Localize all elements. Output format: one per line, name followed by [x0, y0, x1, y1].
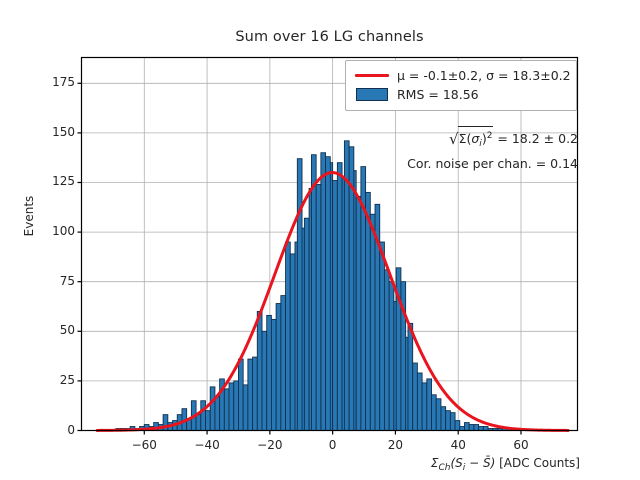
annotation-correlated-noise: Cor. noise per chan. = 0.14	[330, 154, 578, 173]
y-tick-label: 150	[30, 125, 75, 139]
y-tick-label: 100	[30, 224, 75, 238]
x-tick-label: 20	[365, 438, 425, 452]
legend-patch-swatch	[353, 88, 391, 101]
legend-item-histogram[interactable]: RMS = 18.56	[353, 85, 569, 104]
x-tick-label: −60	[114, 438, 174, 452]
y-tick-label: 25	[30, 373, 75, 387]
x-axis-label: ΣCh(Si − S̄) [ADC Counts]	[318, 456, 580, 473]
x-tick-label: −20	[240, 438, 300, 452]
x-tick-label: 0	[303, 438, 363, 452]
y-tick-label: 50	[30, 323, 75, 337]
figure-canvas: Sum over 16 LG channels Events ΣCh(Si − …	[0, 0, 640, 480]
x-tick-label: 40	[428, 438, 488, 452]
annotation-sigma-quadrature: √Σ(σi)2 = 18.2 ± 0.2	[330, 126, 578, 154]
legend-line-swatch	[353, 74, 391, 77]
y-tick-label: 175	[30, 75, 75, 89]
legend-item-fit-label: μ = -0.1±0.2, σ = 18.3±0.2	[391, 68, 571, 83]
chart-title: Sum over 16 LG channels	[81, 29, 578, 45]
y-tick-label: 125	[30, 174, 75, 188]
x-tick-label: −40	[177, 438, 237, 452]
legend-item-fit[interactable]: μ = -0.1±0.2, σ = 18.3±0.2	[353, 66, 569, 85]
legend-item-histogram-label: RMS = 18.56	[391, 87, 479, 102]
y-tick-label: 0	[30, 423, 75, 437]
y-tick-label: 75	[30, 274, 75, 288]
annotation-sigma-value: = 18.2 ± 0.2	[493, 131, 578, 146]
x-tick-label: 60	[491, 438, 551, 452]
legend[interactable]: μ = -0.1±0.2, σ = 18.3±0.2 RMS = 18.56	[345, 60, 577, 111]
annotation-block: √Σ(σi)2 = 18.2 ± 0.2 Cor. noise per chan…	[330, 126, 578, 173]
